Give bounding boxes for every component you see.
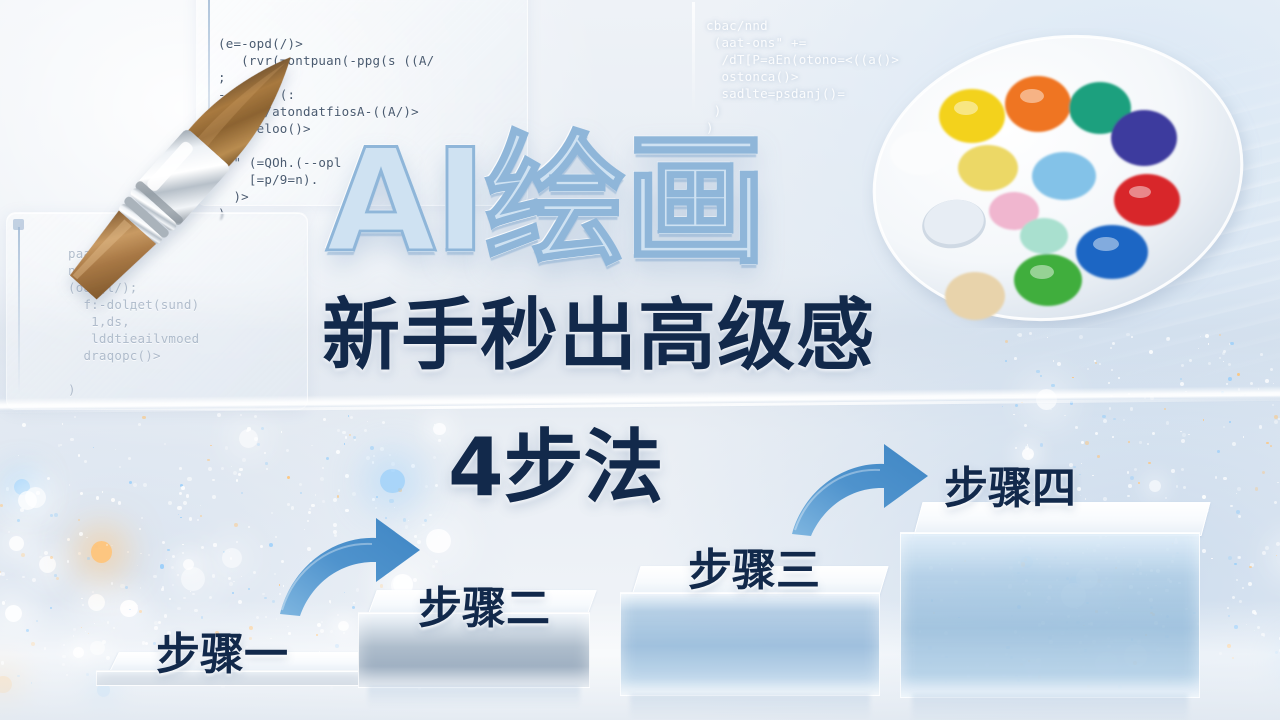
paint-brush: [44, 10, 334, 330]
step-label-2: 步骤二: [418, 572, 550, 636]
arrow-step3-to-step4: [784, 436, 936, 540]
lightblue-paint-blob: [1032, 152, 1096, 200]
cream-paint-blob: [945, 272, 1005, 320]
panel-rail-2: [18, 227, 20, 395]
method-label: 4步法: [448, 418, 664, 518]
orange-paint-blob: [1005, 76, 1071, 132]
white-paint-blob: [890, 131, 950, 175]
page-title: AI绘画: [326, 118, 886, 286]
page-subtitle: 新手秒出高级感: [322, 288, 922, 384]
green-paint-blob: [1014, 254, 1082, 306]
yellow-paint-blob: [939, 89, 1005, 143]
step-label-3: 步骤三: [688, 534, 820, 598]
red-paint-blob: [1114, 174, 1180, 226]
poster-canvas: (e=-opd(/)> (rvr(=ontpuan(-ppg(s ((A/ ; …: [0, 0, 1280, 720]
purple-paint-blob: [1111, 110, 1177, 166]
mint-paint-blob: [1020, 218, 1068, 254]
blue-paint-blob: [1076, 225, 1148, 279]
step-label-4: 步骤四: [944, 452, 1076, 516]
arrow-step1-to-step2: [268, 508, 428, 620]
code-rail-right: [692, 2, 695, 114]
pale-yellow-paint-blob: [958, 145, 1018, 191]
artist-palette: [862, 28, 1262, 328]
podium-step-4: [900, 502, 1200, 694]
step-label-1: 步骤一: [156, 618, 288, 682]
